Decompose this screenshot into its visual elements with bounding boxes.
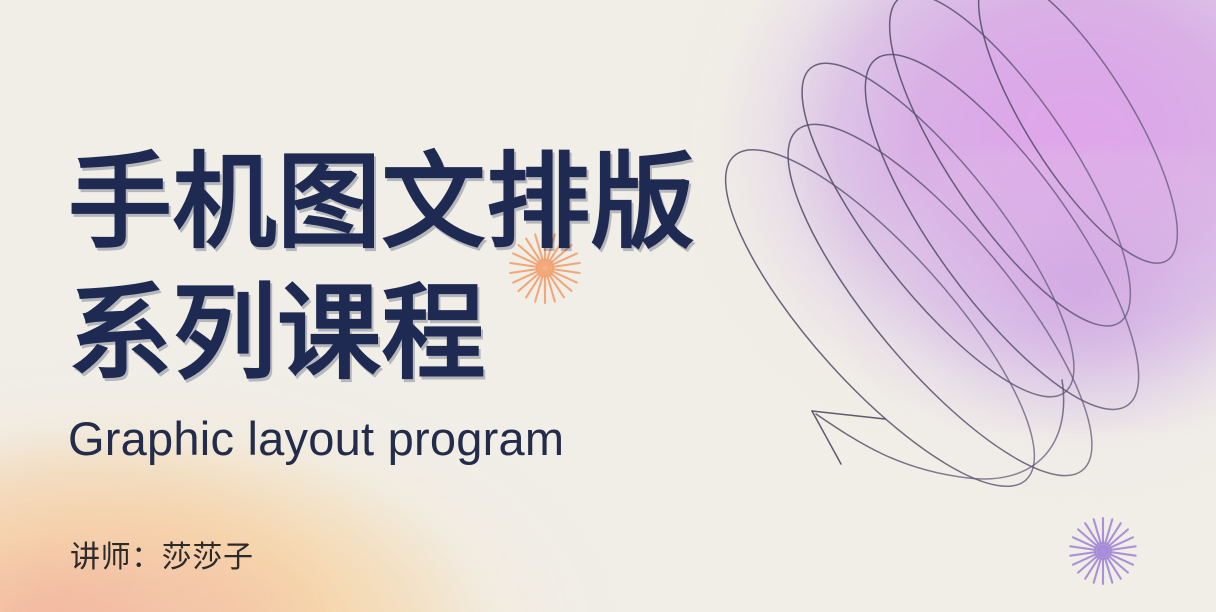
course-title-line-2: 系列课程 xyxy=(68,281,486,385)
instructor-label: 讲师：莎莎子 xyxy=(70,532,254,576)
text-content-block: 手机图文排版 系列课程 Graphic layout program 讲师：莎莎… xyxy=(68,0,768,612)
course-title-line-1: 手机图文排版 xyxy=(68,150,695,254)
course-cover-poster: 手机图文排版 系列课程 Graphic layout program 讲师：莎莎… xyxy=(0,0,1216,612)
course-subtitle-english: Graphic layout program xyxy=(68,411,564,466)
